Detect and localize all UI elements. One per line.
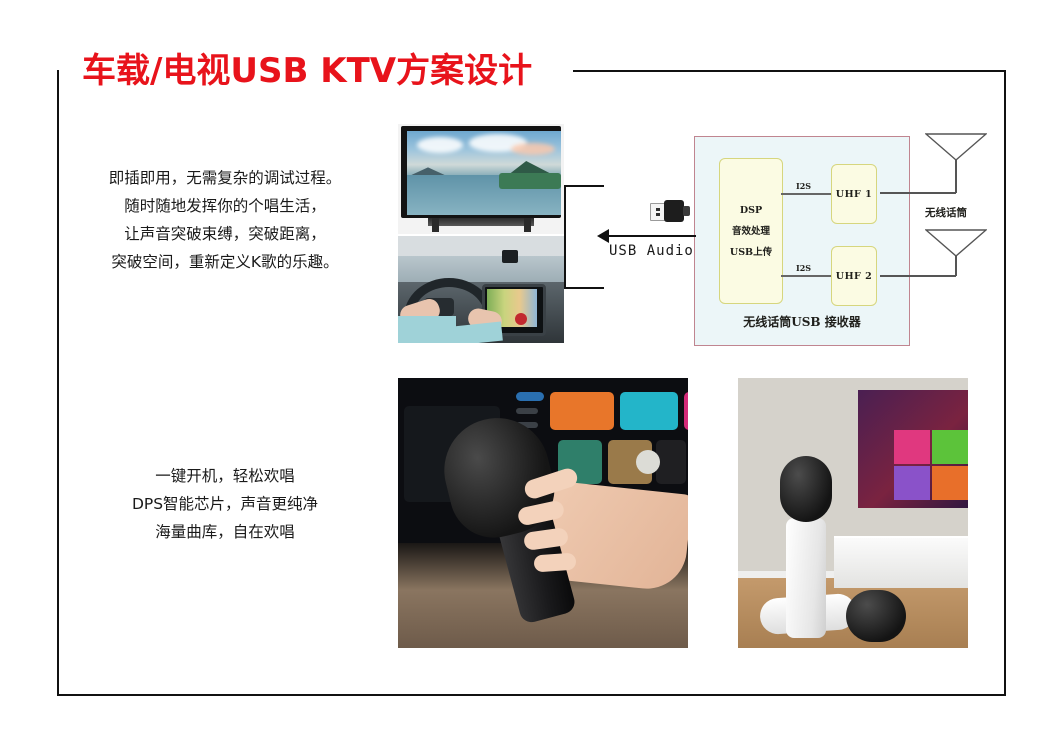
receiver-block-diagram: DSP 音效处理 USB上传 I2S I2S UHF 1 UHF 2 无线话筒U…	[694, 136, 910, 346]
i2s-label-1: I2S	[796, 181, 811, 191]
tv-screen	[407, 131, 561, 215]
frame-left-border	[57, 70, 59, 696]
connector-usb-audio-line	[600, 235, 695, 237]
feature-line: 让声音突破束缚，突破距离，	[70, 220, 380, 248]
feature-text-lower: 一键开机，轻松欢唱 DPS智能芯片，声音更纯净 海量曲库，自在欢唱	[70, 462, 380, 546]
tv-cabinet	[834, 536, 968, 588]
slide-page: 车载/电视USB KTV方案设计 即插即用，无需复杂的调试过程。 随时随地发挥你…	[0, 0, 1061, 749]
screen-tile	[516, 392, 544, 401]
shore-shape	[499, 173, 561, 189]
usb-shell	[664, 200, 684, 222]
finger	[533, 553, 576, 573]
car-interior-photo	[398, 236, 564, 343]
feature-line: DPS智能芯片，声音更纯净	[70, 490, 380, 518]
living-room-mic-photo	[738, 378, 968, 648]
arrow-head-left-icon	[597, 229, 609, 243]
antenna1-mast	[955, 160, 957, 193]
screen-tile	[516, 408, 538, 414]
i2s-line-1	[781, 193, 831, 195]
screen-tile	[550, 392, 614, 430]
i2s-line-2	[781, 275, 831, 277]
feature-line: 一键开机，轻松欢唱	[70, 462, 380, 490]
frame-bottom-border	[57, 694, 1006, 696]
tv-stand	[428, 218, 534, 226]
usb-connector-icon	[650, 200, 690, 222]
antenna2-mast	[955, 256, 957, 276]
touchscreen-button	[515, 313, 527, 325]
tv-app-tile	[932, 466, 968, 500]
cloud-shape	[511, 143, 555, 155]
driver-sleeve	[453, 322, 503, 343]
microphone-1-foam-head	[780, 456, 832, 522]
feature-line: 海量曲库，自在欢唱	[70, 518, 380, 546]
uhf1-label: UHF 1	[836, 189, 872, 200]
diagram-caption: 无线话筒USB 接收器	[695, 313, 909, 330]
tv-photo	[398, 124, 564, 234]
antenna2-lead	[880, 275, 956, 277]
wall-mounted-tv	[858, 390, 968, 508]
feature-line: 即插即用，无需复杂的调试过程。	[70, 164, 380, 192]
tv-foot	[432, 218, 439, 232]
tv-app-tile	[894, 466, 930, 500]
diagram-input-stub	[688, 235, 696, 237]
driver-sleeve	[398, 316, 456, 343]
mic-in-car-photo	[398, 378, 688, 648]
antenna1-lead	[880, 192, 956, 194]
connector-car-branch	[564, 287, 604, 289]
tv-app-tile	[894, 430, 930, 464]
tv-foot	[524, 218, 531, 232]
screen-tile	[684, 392, 688, 430]
dsp-label-3: USB上传	[730, 244, 772, 258]
feature-line: 突破空间，重新定义K歌的乐趣。	[70, 248, 380, 276]
feature-line: 随时随地发挥你的个唱生活，	[70, 192, 380, 220]
uhf2-block: UHF 2	[831, 246, 877, 306]
connector-vertical	[564, 186, 566, 288]
car-roof	[398, 236, 564, 256]
usb-tail	[683, 206, 690, 216]
wireless-mic-label: 无线话筒	[925, 205, 967, 220]
page-title: 车载/电视USB KTV方案设计	[82, 43, 532, 92]
dsp-label-2: 音效处理	[732, 223, 770, 237]
screen-tile	[656, 440, 686, 484]
phone-mount	[502, 250, 518, 263]
feature-text-upper: 即插即用，无需复杂的调试过程。 随时随地发挥你的个唱生活， 让声音突破束缚，突破…	[70, 164, 380, 276]
screen-tile	[620, 392, 678, 430]
antenna1-icon	[925, 133, 987, 161]
dsp-label-1: DSP	[740, 205, 762, 216]
tv-bezel	[401, 126, 561, 218]
frame-right-border	[1004, 70, 1006, 696]
uhf2-label: UHF 2	[836, 271, 872, 282]
antenna2-icon	[925, 229, 987, 257]
screen-tile	[636, 450, 660, 474]
tv-app-tile	[932, 430, 968, 464]
dsp-block: DSP 音效处理 USB上传	[719, 158, 783, 304]
cloud-shape	[417, 137, 463, 153]
frame-top-border	[573, 70, 1006, 72]
connector-tv-branch	[564, 185, 604, 187]
i2s-label-2: I2S	[796, 263, 811, 273]
usb-audio-label: USB Audio	[609, 243, 694, 259]
uhf1-block: UHF 1	[831, 164, 877, 224]
microphone-1-body	[786, 518, 826, 638]
microphone-2-foam-head	[846, 590, 906, 642]
